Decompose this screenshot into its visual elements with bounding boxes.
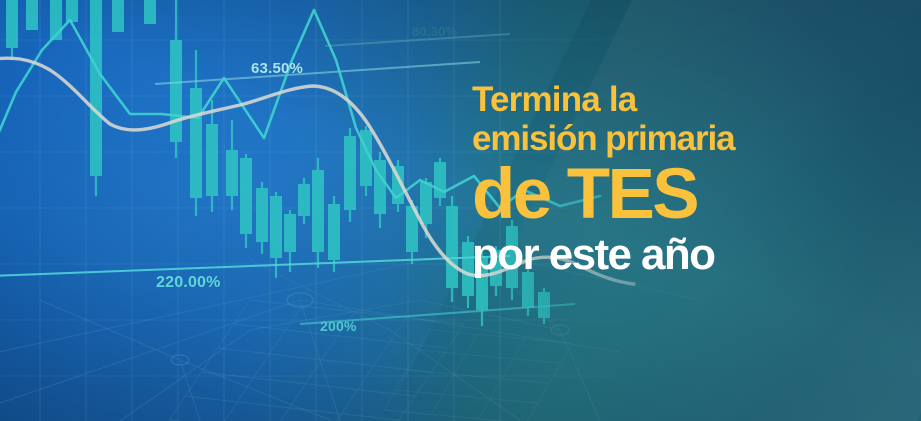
headline-block: Termina la emisión primaria de TES por e… bbox=[472, 82, 902, 277]
chart-label-6350: 63.50% bbox=[251, 60, 303, 77]
promo-banner: 63.50% 80.30% 220.00% 200% Termina la em… bbox=[0, 0, 921, 421]
chart-label-220: 220.00% bbox=[156, 274, 221, 292]
headline-line-1: Termina la bbox=[472, 82, 902, 117]
headline-line-4: por este año bbox=[472, 233, 902, 277]
chart-label-8030: 80.30% bbox=[412, 24, 457, 39]
chart-label-200: 200% bbox=[320, 318, 357, 334]
candlestick-series bbox=[6, 0, 550, 326]
headline-line-3: de TES bbox=[472, 161, 902, 229]
headline-line-2: emisión primaria bbox=[472, 121, 902, 156]
